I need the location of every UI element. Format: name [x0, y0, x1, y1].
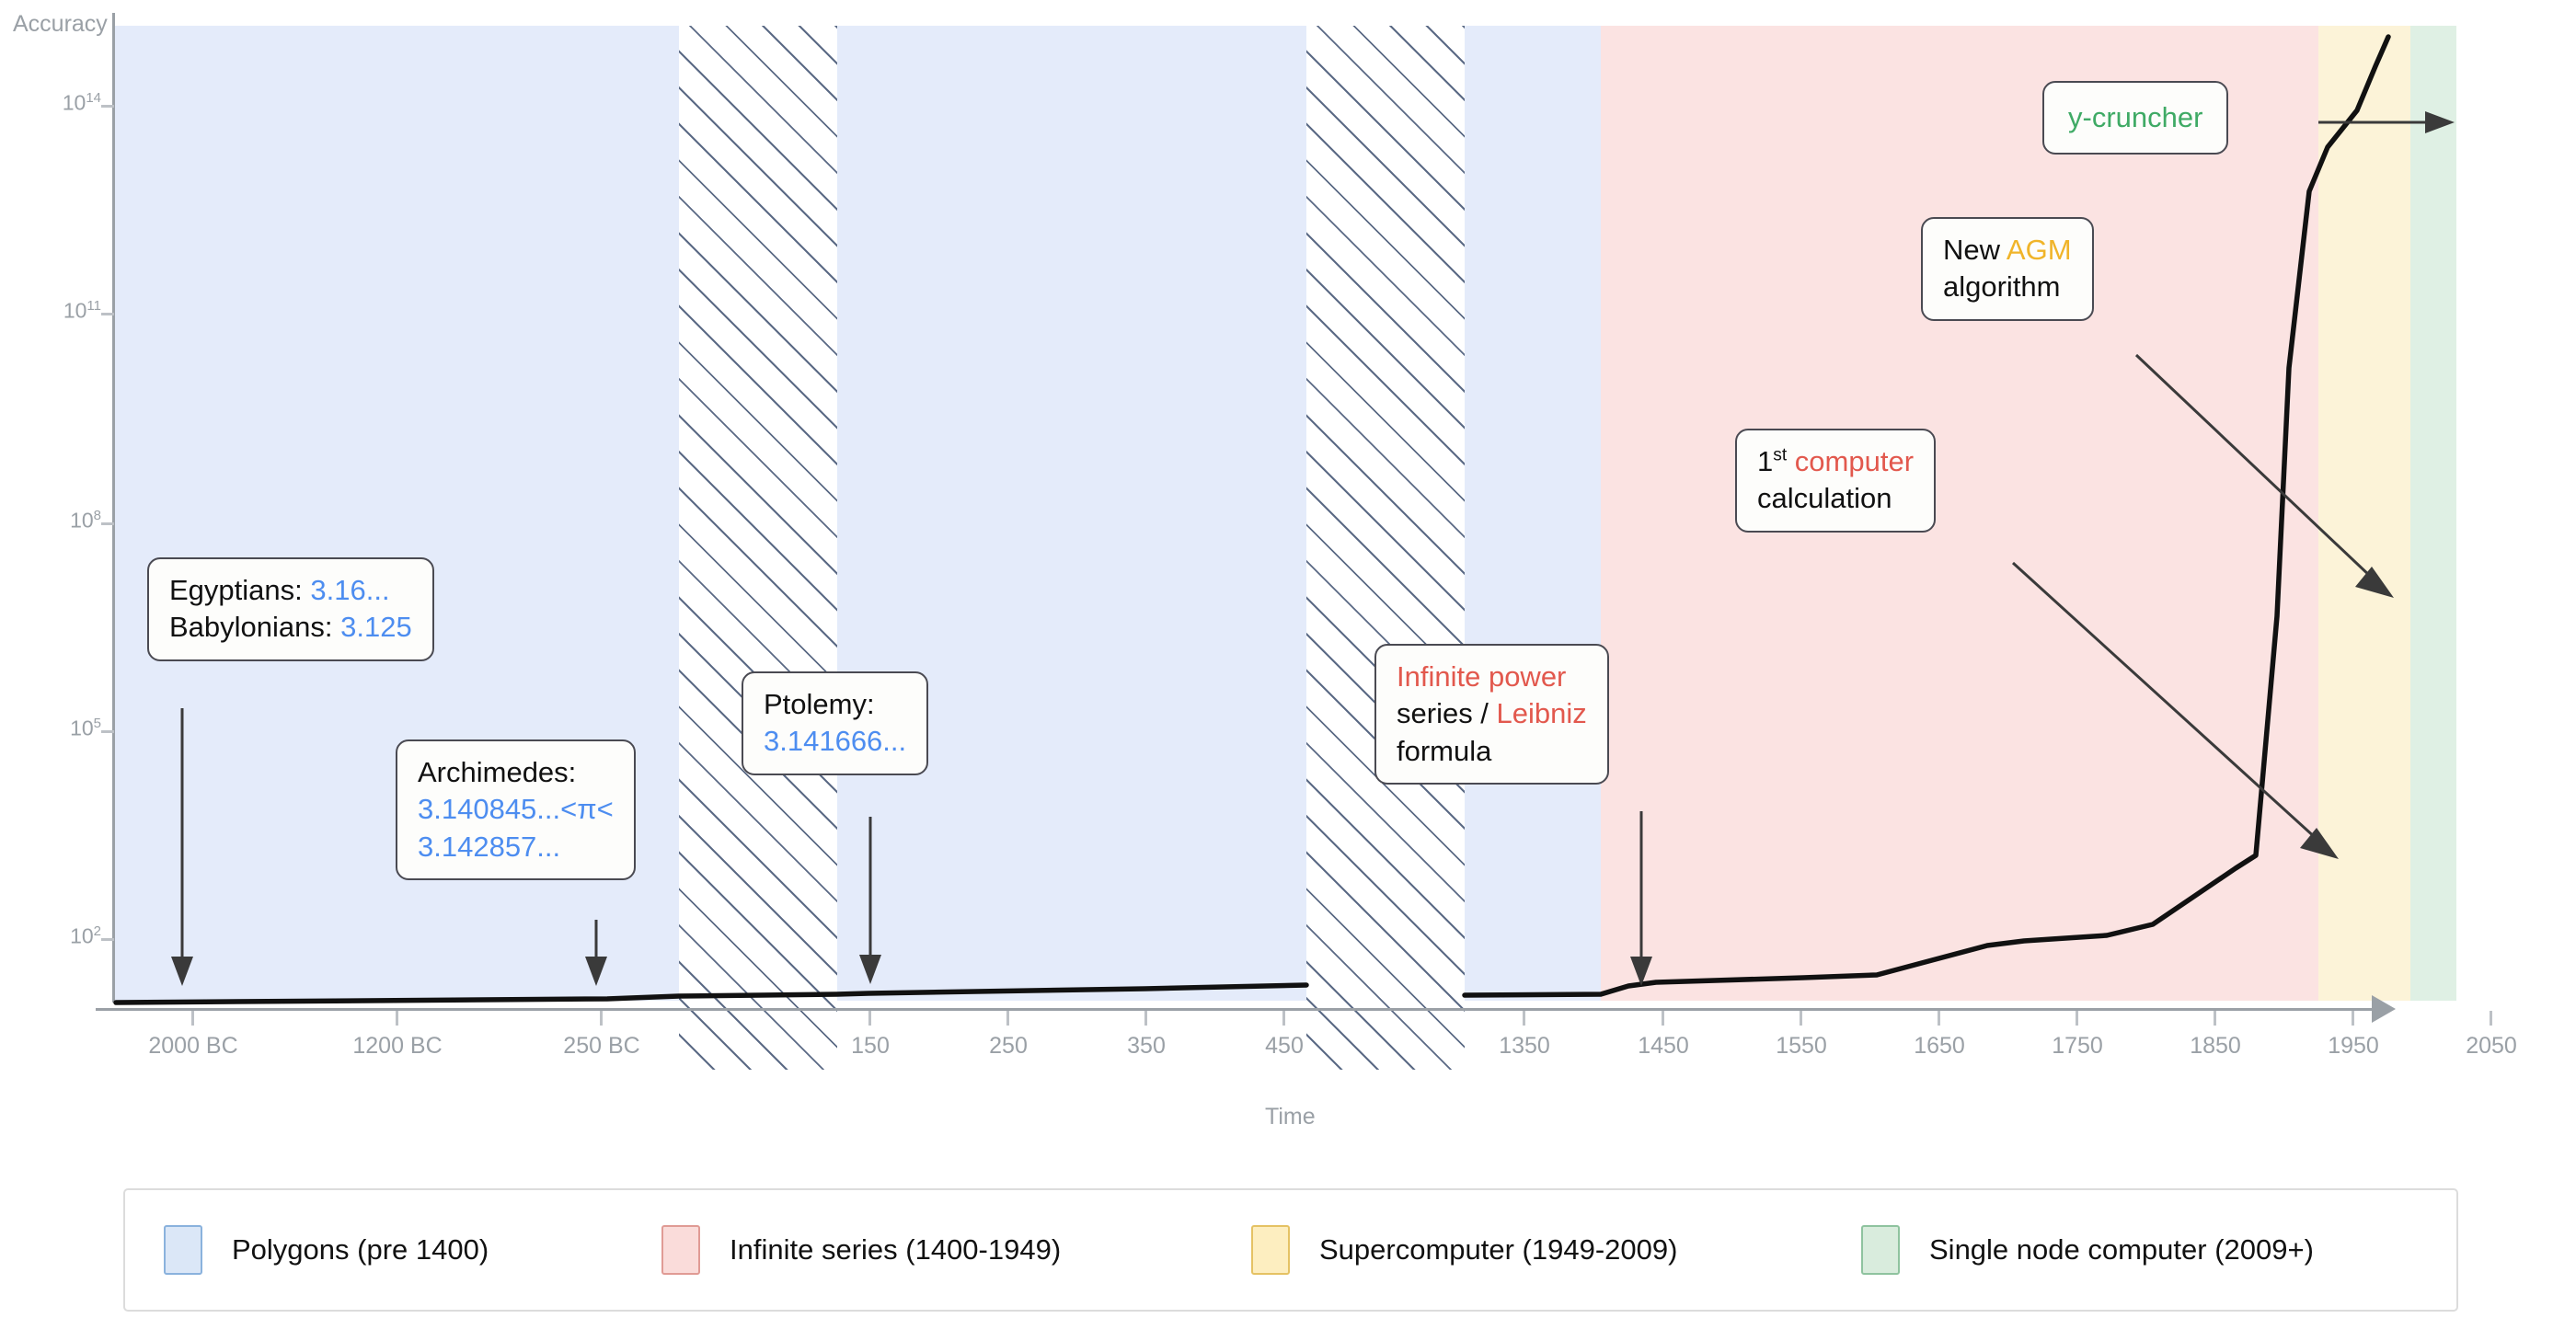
callout-ptolemy[interactable]: Ptolemy: 3.141666... [742, 671, 928, 775]
legend-item-infinite-series[interactable]: Infinite series (1400-1949) [661, 1225, 1061, 1275]
callout-line: 3.142857... [418, 829, 614, 865]
egyptians-label: Egyptians: [169, 574, 303, 606]
ordinal-one: 1 [1757, 445, 1773, 477]
legend-item-supercomputer[interactable]: Supercomputer (1949-2009) [1251, 1225, 1677, 1275]
legend-label-polygons: Polygons (pre 1400) [232, 1233, 489, 1266]
callout-arrow-ycruncher [2425, 111, 2455, 133]
babylonians-label: Babylonians: [169, 611, 333, 643]
egyptians-value: 3.16... [310, 574, 389, 606]
legend-label-single-node: Single node computer (2009+) [1929, 1233, 2314, 1266]
chart-plot-area: Accuracy Time 1014 1011 108 105 102 2000… [0, 0, 2576, 1150]
agm-label: AGM [2007, 234, 2072, 266]
callout-new-agm-algorithm[interactable]: New AGM algorithm [1921, 217, 2094, 321]
legend-swatch-single-node [1861, 1225, 1900, 1275]
computer-label: computer [1787, 445, 1914, 477]
callout-line: calculation [1757, 480, 1914, 517]
callout-egyptians-babylonians[interactable]: Egyptians: 3.16... Babylonians: 3.125 [147, 557, 434, 661]
babylonians-value: 3.125 [340, 611, 412, 643]
legend-item-polygons[interactable]: Polygons (pre 1400) [164, 1225, 489, 1275]
legend-label-supercomputer: Supercomputer (1949-2009) [1319, 1233, 1677, 1266]
callout-arrow-first-computer [2300, 828, 2339, 859]
leibniz-label: Leibniz [1497, 697, 1587, 729]
callout-infinite-series-leibniz[interactable]: Infinite power series / Leibniz formula [1374, 644, 1609, 785]
callout-arrow-archimedes [585, 957, 607, 986]
series-slash-label: series / [1397, 697, 1497, 729]
callout-arrow-ptolemy [859, 955, 881, 984]
callout-line: algorithm [1943, 269, 2072, 305]
callout-first-computer-calculation[interactable]: 1st computer calculation [1735, 429, 1936, 533]
callout-line: Archimedes: [418, 754, 614, 791]
callout-line: series / Leibniz [1397, 695, 1587, 732]
callout-line: Infinite power [1397, 659, 1587, 695]
callout-line: 1st computer [1757, 443, 1914, 480]
callout-archimedes[interactable]: Archimedes: 3.140845...<π< 3.142857... [396, 739, 636, 880]
callout-line: Babylonians: 3.125 [169, 609, 412, 646]
callout-ycruncher[interactable]: y-cruncher [2042, 81, 2228, 155]
callout-line: Egyptians: 3.16... [169, 572, 412, 609]
callout-arrow-egyptians [171, 957, 193, 986]
callout-line: Ptolemy: [764, 686, 906, 723]
chart-legend: Polygons (pre 1400) Infinite series (140… [123, 1188, 2458, 1312]
ordinal-suffix: st [1773, 446, 1787, 465]
legend-swatch-supercomputer [1251, 1225, 1290, 1275]
accuracy-series-line [116, 985, 1306, 1003]
callout-line: formula [1397, 733, 1587, 770]
callout-line: New AGM [1943, 232, 2072, 269]
callout-leader-agm [2136, 355, 2372, 578]
pi-accuracy-timeline-chart: Accuracy Time 1014 1011 108 105 102 2000… [0, 0, 2576, 1341]
legend-item-single-node[interactable]: Single node computer (2009+) [1861, 1225, 2314, 1275]
callout-line: 3.140845...<π< [418, 791, 614, 828]
callout-arrow-agm [2355, 567, 2394, 598]
new-label: New [1943, 234, 2007, 266]
legend-swatch-infinite-series [661, 1225, 700, 1275]
legend-label-infinite-series: Infinite series (1400-1949) [730, 1233, 1061, 1266]
legend-swatch-polygons [164, 1225, 202, 1275]
callout-line: y-cruncher [2068, 99, 2202, 136]
callout-line: 3.141666... [764, 723, 906, 760]
